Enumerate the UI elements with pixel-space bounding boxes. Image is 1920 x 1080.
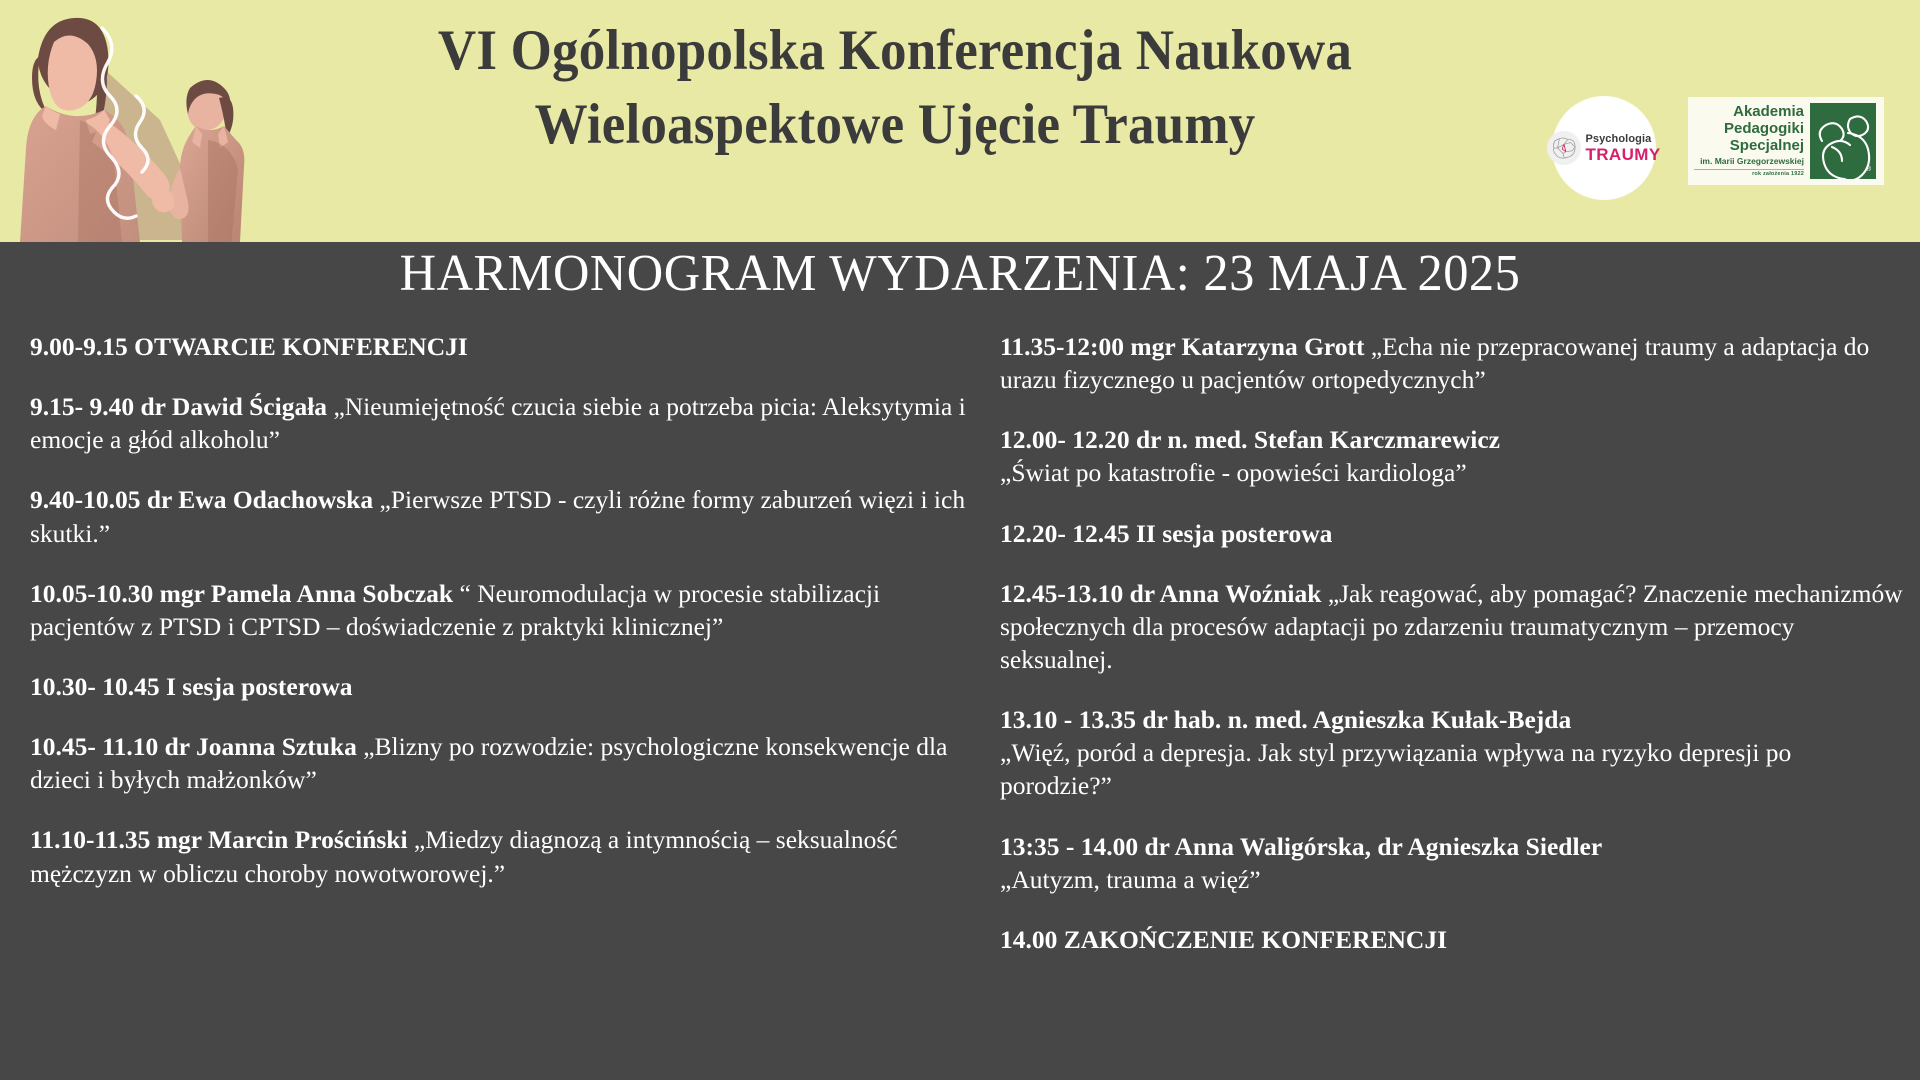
schedule-column-right: 11.35-12:00 mgr Katarzyna Grott „Echa ni… <box>1000 330 1920 1070</box>
aps-emblem-icon: ® <box>1810 103 1876 179</box>
conference-schedule-poster: VI Ogólnopolska Konferencja Naukowa Wiel… <box>0 0 1920 1080</box>
schedule-columns: 9.00-9.15 OTWARCIE KONFERENCJI9.15- 9.40… <box>0 330 1920 1070</box>
conference-title-line2: Wieloaspektowe Ujęcie Traumy <box>314 88 1477 162</box>
schedule-heading: HARMONOGRAM WYDARZENIA: 23 MAJA 2025 <box>29 248 1891 300</box>
schedule-entry: 9.00-9.15 OTWARCIE KONFERENCJI <box>30 330 980 363</box>
psychologia-traumy-logo: Psychologia TRAUMY <box>1552 96 1656 200</box>
aps-patron: im. Marii Grzegorzewskiej <box>1694 156 1804 167</box>
svg-text:®: ® <box>1866 165 1872 173</box>
schedule-entry: 10.05-10.30 mgr Pamela Anna Sobczak “ Ne… <box>30 577 980 643</box>
aps-line3: Specjalnej <box>1694 138 1804 155</box>
schedule-entry: 12.45-13.10 dr Anna Woźniak „Jak reagowa… <box>1000 577 1904 676</box>
poster-header: VI Ogólnopolska Konferencja Naukowa Wiel… <box>0 0 1920 242</box>
schedule-entry: 10.30- 10.45 I sesja posterowa <box>30 670 980 703</box>
schedule-entry: 13.10 - 13.35 dr hab. n. med. Agnieszka … <box>1000 703 1904 802</box>
schedule-entry: 11.10-11.35 mgr Marcin Prościński „Miedz… <box>30 823 980 889</box>
schedule-entry: 14.00 ZAKOŃCZENIE KONFERENCJI <box>1000 923 1904 956</box>
schedule-entry-lead: 10.05-10.30 mgr Pamela Anna Sobczak <box>30 579 453 608</box>
aps-line1: Akademia <box>1694 104 1804 121</box>
schedule-entry-lead: 13.10 - 13.35 dr hab. n. med. Agnieszka … <box>1000 705 1571 734</box>
schedule-entry: 13:35 - 14.00 dr Anna Waligórska, dr Agn… <box>1000 830 1904 896</box>
schedule-entry-lead: 9.15- 9.40 dr Dawid Ścigała <box>30 392 327 421</box>
schedule-entry-lead: 14.00 ZAKOŃCZENIE KONFERENCJI <box>1000 925 1447 954</box>
traumy-wordmark: Psychologia TRAUMY <box>1585 134 1660 163</box>
schedule-entry-lead: 11.35-12:00 mgr Katarzyna Grott <box>1000 332 1365 361</box>
aps-logo: Akademia Pedagogiki Specjalnej im. Marii… <box>1688 97 1884 185</box>
schedule-entry: 9.15- 9.40 dr Dawid Ścigała „Nieumiejętn… <box>30 390 980 456</box>
traumy-word-top: Psychologia <box>1585 134 1660 145</box>
schedule-entry-lead: 12.20- 12.45 II sesja posterowa <box>1000 519 1332 548</box>
schedule-entry-lead: 10.30- 10.45 I sesja posterowa <box>30 672 353 701</box>
schedule-entry-title: „Więź, poród a depresja. Jak styl przywi… <box>1000 736 1904 802</box>
conference-title-line1: VI Ogólnopolska Konferencja Naukowa <box>314 14 1477 88</box>
conference-title: VI Ogólnopolska Konferencja Naukowa Wiel… <box>270 14 1520 162</box>
aps-line2: Pedagogiki <box>1694 121 1804 138</box>
schedule-column-left: 9.00-9.15 OTWARCIE KONFERENCJI9.15- 9.40… <box>0 330 1000 1070</box>
schedule-entry: 11.35-12:00 mgr Katarzyna Grott „Echa ni… <box>1000 330 1904 396</box>
schedule-entry-lead: 12.00- 12.20 dr n. med. Stefan Karczmare… <box>1000 425 1500 454</box>
schedule-entry-title: „Świat po katastrofie - opowieści kardio… <box>1000 456 1904 489</box>
brain-icon <box>1547 131 1581 165</box>
aps-founded: rok założenia 1922 <box>1694 171 1804 178</box>
schedule-entry: 12.00- 12.20 dr n. med. Stefan Karczmare… <box>1000 423 1904 489</box>
aps-divider <box>1694 169 1804 170</box>
schedule-entry-lead: 10.45- 11.10 dr Joanna Sztuka <box>30 732 357 761</box>
schedule-entry-title: „Autyzm, trauma a więź” <box>1000 863 1904 896</box>
aps-wordmark: Akademia Pedagogiki Specjalnej im. Marii… <box>1694 104 1804 177</box>
schedule-entry: 10.45- 11.10 dr Joanna Sztuka „Blizny po… <box>30 730 980 796</box>
two-women-illustration <box>10 0 275 242</box>
schedule-entry: 9.40-10.05 dr Ewa Odachowska „Pierwsze P… <box>30 483 980 549</box>
schedule-entry-lead: 11.10-11.35 mgr Marcin Prościński <box>30 825 408 854</box>
schedule-entry-lead: 9.40-10.05 dr Ewa Odachowska <box>30 485 373 514</box>
schedule-entry-lead: 9.00-9.15 OTWARCIE KONFERENCJI <box>30 332 468 361</box>
schedule-entry: 12.20- 12.45 II sesja posterowa <box>1000 517 1904 550</box>
traumy-word-bottom: TRAUMY <box>1585 146 1660 163</box>
schedule-entry-lead: 13:35 - 14.00 dr Anna Waligórska, dr Agn… <box>1000 832 1602 861</box>
schedule-entry-lead: 12.45-13.10 dr Anna Woźniak <box>1000 579 1321 608</box>
